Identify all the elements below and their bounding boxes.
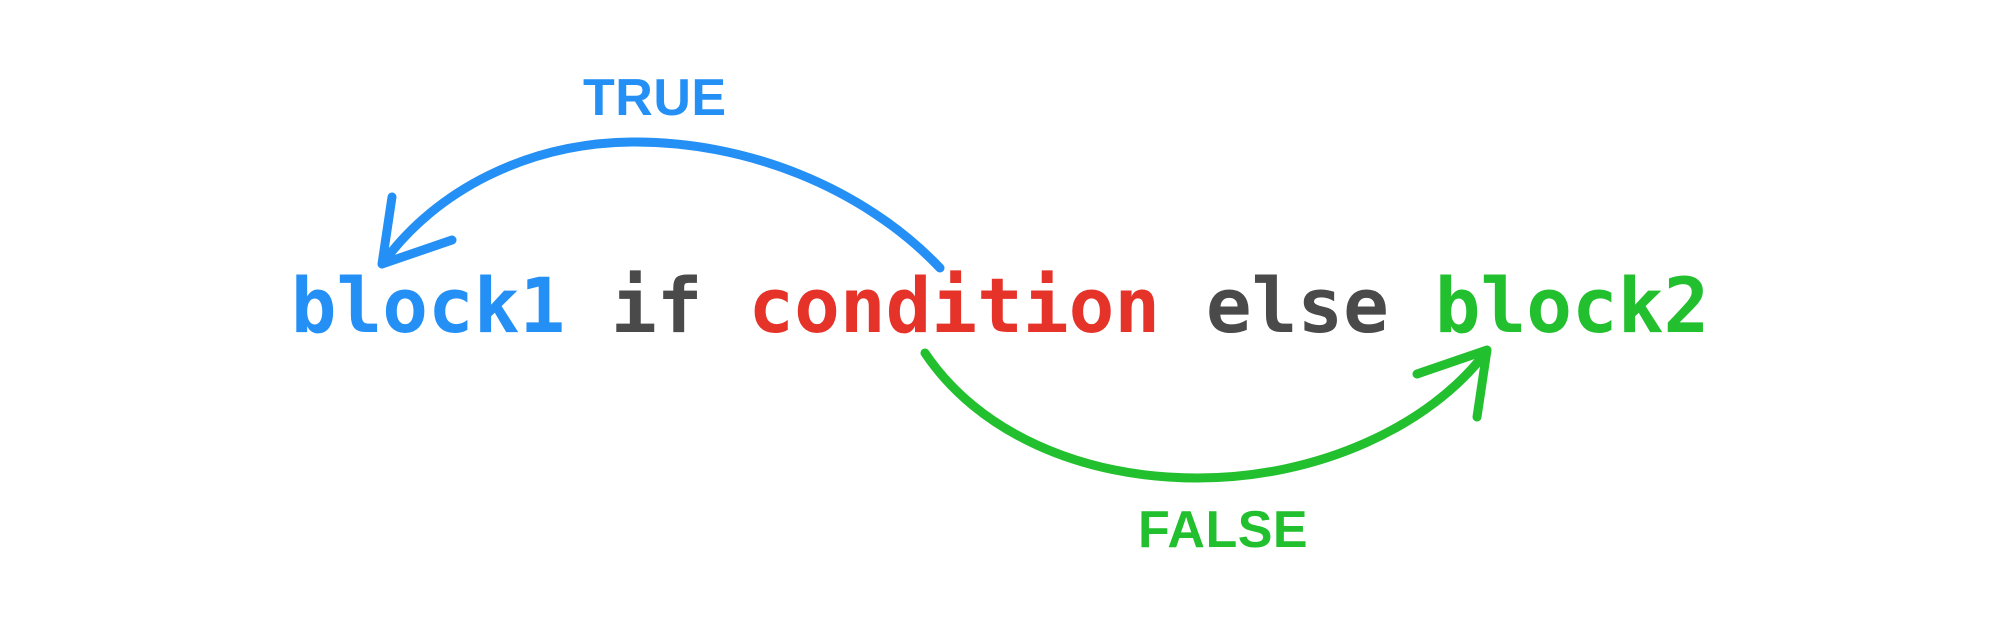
false-arrow-curve [925, 352, 1486, 478]
true-branch-label: TRUE [583, 70, 727, 126]
false-arrow [925, 350, 1487, 478]
token-if: if [611, 261, 703, 350]
false-branch-label: FALSE [1138, 502, 1308, 558]
true-arrow [382, 142, 940, 268]
token-block2: block2 [1435, 261, 1710, 350]
diagram-canvas: block1 if condition else block2 TRUE FAL… [0, 0, 2000, 635]
token-condition: condition [748, 261, 1160, 350]
true-arrow-curve [383, 142, 940, 268]
token-space-3 [1160, 261, 1206, 350]
token-space-2 [703, 261, 749, 350]
token-space-4 [1389, 261, 1435, 350]
conditional-expression: block1 if condition else block2 [0, 258, 2000, 354]
token-space-1 [565, 261, 611, 350]
token-else: else [1206, 261, 1389, 350]
token-block1: block1 [291, 261, 566, 350]
